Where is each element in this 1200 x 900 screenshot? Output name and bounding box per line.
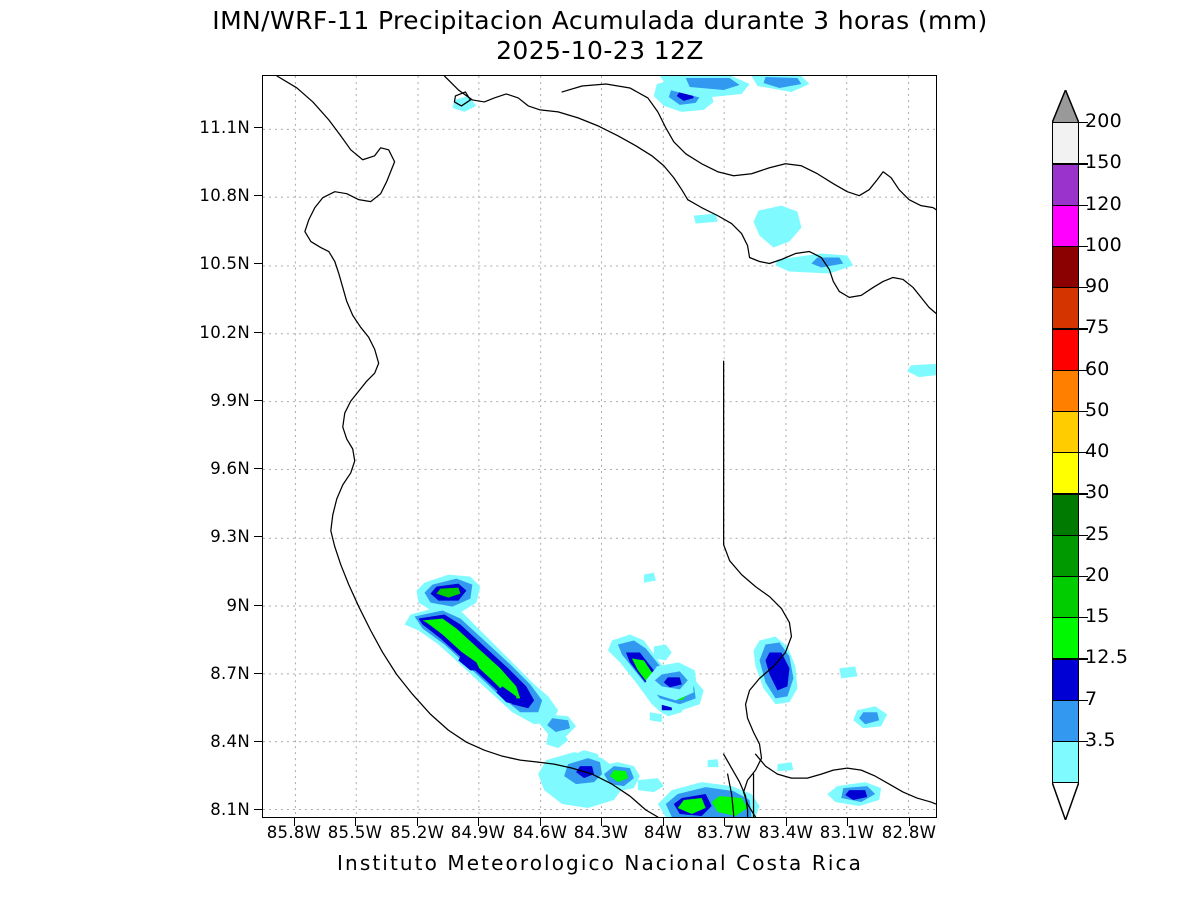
colorbar-label-120: 120 xyxy=(1085,193,1122,215)
colorbar-separator xyxy=(1052,452,1079,453)
colorbar-separator xyxy=(1052,287,1079,288)
colorbar-band-25 xyxy=(1052,535,1079,576)
colorbar-separator xyxy=(1052,493,1079,494)
x-axis-tick-label: 85.5W xyxy=(320,823,390,842)
colorbar-separator xyxy=(1052,535,1079,536)
precipitation-field xyxy=(325,76,936,817)
colorbar-separator xyxy=(1052,576,1079,577)
grid-lines xyxy=(263,76,936,817)
colorbar-band-40 xyxy=(1052,452,1079,493)
colorbar-band-60 xyxy=(1052,370,1079,411)
page-title: IMN/WRF-11 Precipitacion Acumulada duran… xyxy=(0,6,1200,36)
colorbar-label-75: 75 xyxy=(1085,316,1110,338)
colorbar-label-150: 150 xyxy=(1085,151,1122,173)
coastline-border-north xyxy=(688,200,750,258)
colorbar-band-150 xyxy=(1052,163,1079,204)
y-axis-tick-label: 9.3N xyxy=(186,527,250,546)
coastline-layer xyxy=(277,76,936,817)
chart-title-block: IMN/WRF-11 Precipitacion Acumulada duran… xyxy=(0,6,1200,66)
colorbar-separator xyxy=(1052,700,1079,701)
y-axis-tick-label: 9N xyxy=(186,596,250,615)
precip-cell-pacific-offshore xyxy=(754,636,798,704)
precip-cell-top-strip-b xyxy=(752,76,810,92)
colorbar-separator xyxy=(1052,328,1079,329)
x-axis-tick-label: 84.3W xyxy=(566,823,636,842)
y-axis-tick-label: 11.1N xyxy=(186,118,250,137)
colorbar-label-100: 100 xyxy=(1085,234,1122,256)
colorbar-separator xyxy=(1052,411,1079,412)
precip-cell-offshore-sliver xyxy=(694,214,718,224)
colorbar-label-200: 200 xyxy=(1085,110,1122,132)
colorbar-label-15: 15 xyxy=(1085,605,1110,627)
colorbar-band-15 xyxy=(1052,617,1079,658)
precip-cell-offshore-a xyxy=(754,206,802,248)
colorbar-label-3.5: 3.5 xyxy=(1085,729,1116,751)
x-axis-tick-label: 85.2W xyxy=(382,823,452,842)
colorbar-separator xyxy=(1052,246,1079,247)
x-axis-tick-label: 83.7W xyxy=(689,823,759,842)
colorbar-label-25: 25 xyxy=(1085,523,1110,545)
colorbar-band-20 xyxy=(1052,576,1079,617)
colorbar-band-120 xyxy=(1052,205,1079,246)
y-axis-tick-label: 10.5N xyxy=(186,254,250,273)
colorbar-label-20: 20 xyxy=(1085,564,1110,586)
x-axis-tick-label: 83.1W xyxy=(812,823,882,842)
colorbar-separator xyxy=(1052,122,1079,123)
y-axis-tick-label: 8.4N xyxy=(186,732,250,751)
x-axis-tick-label: 84W xyxy=(628,823,698,842)
y-axis-tick-label: 10.8N xyxy=(186,186,250,205)
colorbar-band-30 xyxy=(1052,493,1079,534)
colorbar-band-90 xyxy=(1052,287,1079,328)
map-plot-area xyxy=(262,75,937,818)
colorbar-label-90: 90 xyxy=(1085,275,1110,297)
colorbar-separator xyxy=(1052,205,1079,206)
colorbar-band-100 xyxy=(1052,246,1079,287)
coastline-tortuguero xyxy=(724,361,792,817)
precip-cell-panama-speck xyxy=(708,759,794,771)
precip-cell-panama-border xyxy=(658,782,760,817)
colorbar-band-200 xyxy=(1052,122,1079,163)
x-axis-tick-label: 82.8W xyxy=(874,823,944,842)
colorbar-label-7: 7 xyxy=(1085,688,1097,710)
page-subtitle: 2025-10-23 12Z xyxy=(0,36,1200,66)
y-axis-tick-label: 10.2N xyxy=(186,323,250,342)
precip-cell-nicoya-a xyxy=(417,575,481,613)
y-axis-tick-label: 9.9N xyxy=(186,391,250,410)
colorbar-band-75 xyxy=(1052,328,1079,369)
colorbar xyxy=(1052,122,1079,782)
x-axis-tick-label: 83.4W xyxy=(751,823,821,842)
precip-cell-pacific-speck-c xyxy=(839,666,857,678)
colorbar-separator xyxy=(1052,163,1079,164)
colorbar-over-arrow xyxy=(1052,90,1079,123)
colorbar-label-12.5: 12.5 xyxy=(1085,646,1128,668)
x-axis-tick-label: 84.9W xyxy=(443,823,513,842)
y-axis-tick-label: 8.1N xyxy=(186,800,250,819)
x-axis-tick-label: 84.6W xyxy=(505,823,575,842)
coastline-nicoya-gulf xyxy=(444,76,687,200)
colorbar-separator xyxy=(1052,370,1079,371)
colorbar-bottom-edge xyxy=(1052,782,1079,783)
colorbar-label-60: 60 xyxy=(1085,358,1110,380)
precip-cell-south-cluster xyxy=(325,768,375,796)
colorbar-separator xyxy=(1052,617,1079,618)
colorbar-label-30: 30 xyxy=(1085,481,1110,503)
y-axis-tick-label: 9.6N xyxy=(186,459,250,478)
colorbar-label-40: 40 xyxy=(1085,440,1110,462)
colorbar-band-50 xyxy=(1052,411,1079,452)
precip-cell-pacific-offshore-dot xyxy=(853,706,887,728)
precip-cell-panama-se xyxy=(827,782,881,806)
colorbar-band-12.5 xyxy=(1052,658,1079,699)
colorbar-separator xyxy=(1052,741,1079,742)
precip-cell-nicoya-b xyxy=(405,607,559,725)
precip-cell-pacific-speck-b xyxy=(650,712,662,722)
y-axis-tick-label: 8.7N xyxy=(186,664,250,683)
precip-cell-offshore-c xyxy=(907,363,936,377)
precip-cell-golfo-dulce xyxy=(654,644,672,660)
coastline-lake-nicaragua xyxy=(562,84,936,210)
colorbar-under-arrow xyxy=(1052,782,1079,820)
x-axis-tick-label: 85.8W xyxy=(259,823,329,842)
colorbar-label-50: 50 xyxy=(1085,399,1110,421)
colorbar-separator xyxy=(1052,658,1079,659)
map-canvas xyxy=(263,76,936,817)
footer-attribution: Instituto Meteorologico Nacional Costa R… xyxy=(0,851,1200,875)
colorbar-band-3.5 xyxy=(1052,741,1079,782)
colorbar-band-7 xyxy=(1052,700,1079,741)
precip-cell-pacific-speck-a xyxy=(644,573,656,583)
